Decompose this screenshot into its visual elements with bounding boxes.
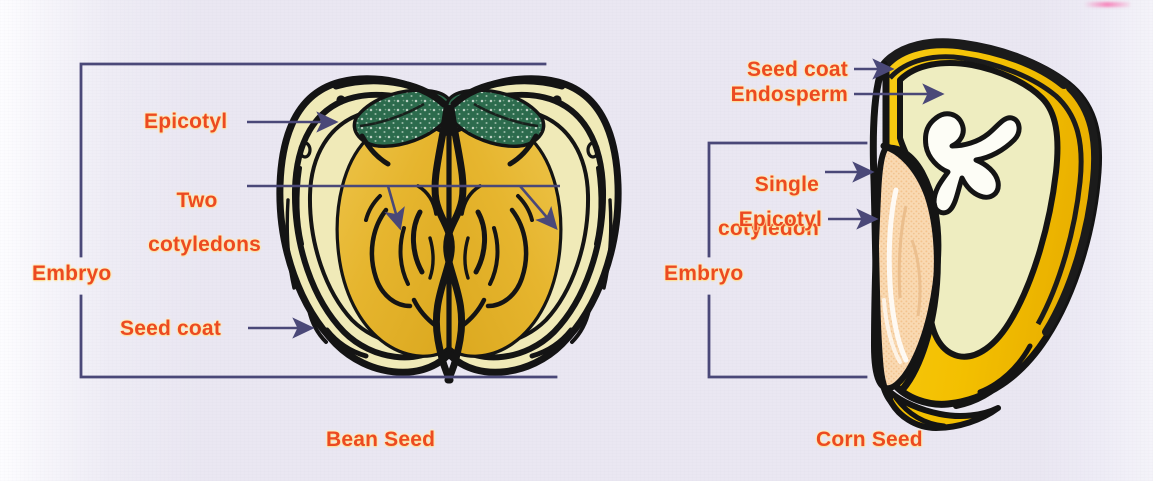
bean-right-half (447, 79, 619, 372)
caption-bean-seed: Bean Seed (326, 428, 435, 451)
label-corn-endosperm: Endosperm (640, 83, 848, 106)
label-bean-two-cotyledons-line2: cotyledons (148, 233, 261, 256)
label-bean-embryo: Embryo (32, 262, 111, 285)
diagram-canvas: Epicotyl Two cotyledons Seed coat Embryo… (0, 0, 1153, 481)
label-corn-seed-coat: Seed coat (660, 58, 848, 81)
label-bean-two-cotyledons-line1: Two (177, 189, 218, 212)
bean-seed-illustration (280, 79, 618, 380)
corn-seed-illustration (873, 43, 1098, 428)
bracket-corn-lower (709, 296, 866, 377)
label-bean-epicotyl: Epicotyl (144, 110, 227, 133)
label-corn-single-cotyledon: Single cotyledon (660, 152, 819, 262)
label-corn-epicotyl: Epicotyl (660, 208, 822, 231)
label-bean-two-cotyledons: Two cotyledons (124, 168, 246, 278)
label-corn-embryo: Embryo (664, 262, 743, 285)
label-corn-single-cotyledon-line1: Single (755, 173, 819, 196)
caption-corn-seed: Corn Seed (816, 428, 923, 451)
label-bean-seed-coat: Seed coat (120, 317, 221, 340)
